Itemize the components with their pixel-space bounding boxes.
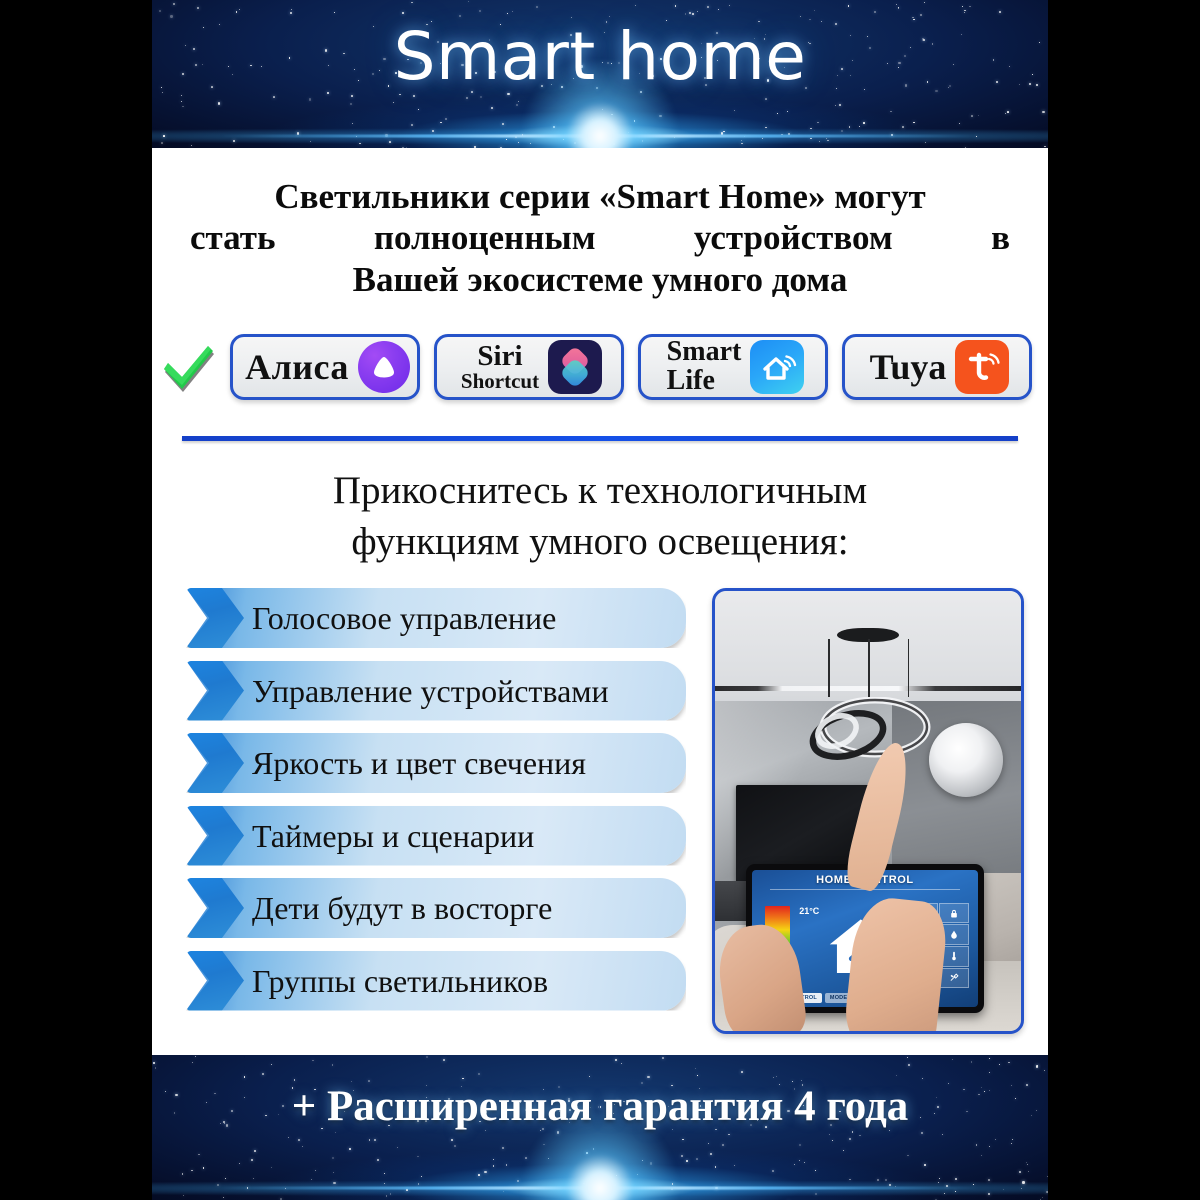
list-item-label: Голосовое управление [186,602,556,634]
headline: Светильники серии «Smart Home» могут ста… [152,148,1048,300]
list-item-label: Управление устройствами [186,675,609,707]
list-item-label: Группы светильников [186,965,548,997]
interior-photo: HOME CONTROL 21°C [712,588,1024,1034]
page-title: Smart home [152,0,1048,90]
features-and-photo: Голосовое управление Управление устройст… [152,588,1048,1048]
badge-smart-life[interactable]: Smart Life [638,334,828,400]
tuya-logo-icon [955,340,1009,394]
photo-pendant-lamp [793,697,943,763]
warranty-text: + Расширенная гарантия 4 года [152,1055,1048,1128]
badge-siri-label-bottom: Shortcut [461,371,539,392]
list-item[interactable]: Яркость и цвет свечения [186,733,686,793]
temperature-readout: 21°C [799,906,819,916]
list-item[interactable]: Дети будут в восторге [186,878,686,938]
green-check-icon [160,337,216,397]
headline-line-2: стать полноценным устройством в [178,217,1022,258]
badge-siri-label-top: Siri [477,342,522,372]
badge-siri-shortcut[interactable]: Siri Shortcut [434,334,624,400]
content-card: Светильники серии «Smart Home» могут ста… [152,148,1048,1055]
smart-life-logo-icon [750,340,804,394]
list-item[interactable]: Голосовое управление [186,588,686,648]
badge-tuya[interactable]: Tuya [842,334,1032,400]
list-item-label: Дети будут в восторге [186,892,552,924]
top-banner: Smart home [152,0,1048,148]
lock-icon[interactable] [939,903,969,924]
infographic-page: Smart home Светильники серии «Smart Home… [0,0,1200,1200]
bottom-banner: + Расширенная гарантия 4 года [152,1055,1048,1200]
badge-alisa-label: Алиса [245,349,349,385]
subheading-line-1: Прикоснитесь к технологичным [152,466,1048,517]
photo-lamp-wire [868,639,870,696]
feature-list: Голосовое управление Управление устройст… [186,588,686,1023]
badge-tuya-label: Tuya [870,349,947,385]
photo-lamp-wire [828,639,830,696]
badge-smartlife-label-top: Smart [667,338,742,367]
photo-lamp-wire [908,639,910,696]
badge-smartlife-label-bottom: Life [667,367,715,396]
tools-icon[interactable] [939,968,969,989]
list-item[interactable]: Таймеры и сценарии [186,806,686,866]
siri-shortcuts-logo-icon [548,340,602,394]
list-item[interactable]: Группы светильников [186,951,686,1011]
list-item[interactable]: Управление устройствами [186,661,686,721]
alice-logo-icon [358,341,410,393]
subheading-line-2: функциям умного освещения: [152,517,1048,568]
badge-alisa[interactable]: Алиса [230,334,420,400]
headline-line-1: Светильники серии «Smart Home» могут [178,176,1022,217]
section-divider [182,436,1018,441]
subheading: Прикоснитесь к технологичным функциям ум… [152,466,1048,567]
headline-line-3: Вашей экосистеме умного дома [178,259,1022,300]
platform-badges-row: Алиса Siri Shortcut [152,334,1048,400]
list-item-label: Яркость и цвет свечения [186,747,586,779]
list-item-label: Таймеры и сценарии [186,820,534,852]
